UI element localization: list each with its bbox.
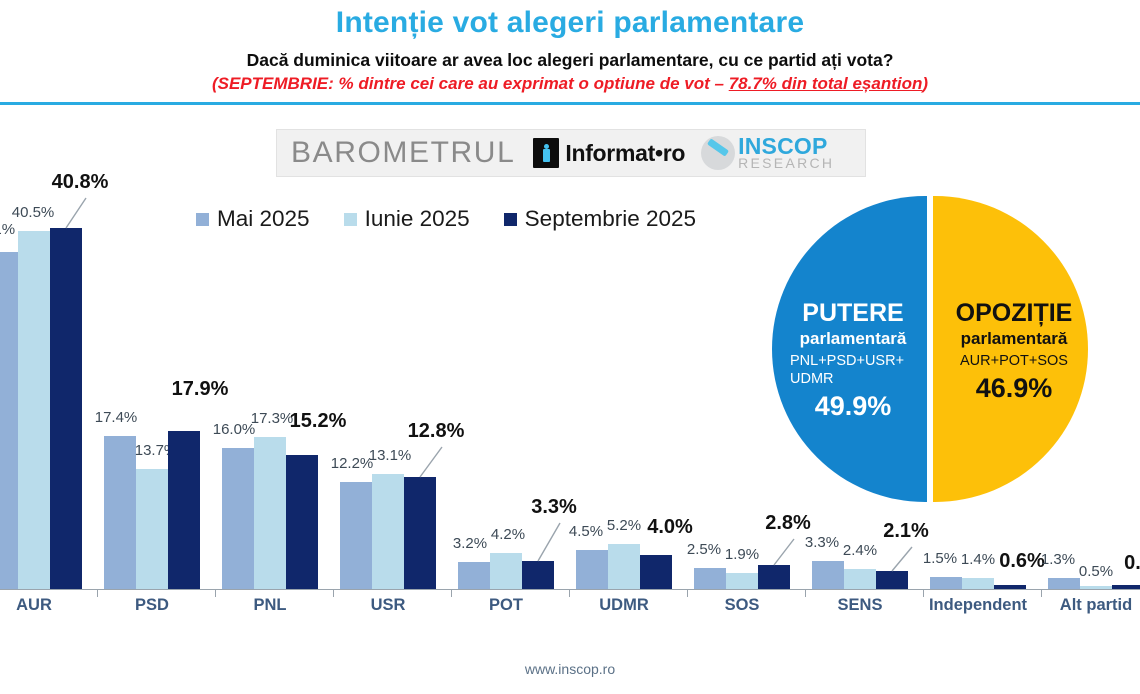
chart-note: (SEPTEMBRIE: % dintre cei care au exprim… <box>0 74 1140 94</box>
category-label-alt-partid: Alt partid <box>1036 596 1140 615</box>
bar-group-usr[interactable]: 12.2%13.1%12.8% <box>340 190 436 590</box>
bar-value-label: 17.4% <box>95 409 138 426</box>
bar-group-udmr[interactable]: 4.5%5.2%4.0% <box>576 190 672 590</box>
inscop-circle-icon <box>701 136 735 170</box>
bar[interactable] <box>640 555 672 590</box>
bar-value-label: 17.9% <box>172 378 229 401</box>
bar[interactable] <box>168 431 200 590</box>
bar-value-label: 0.6 <box>1124 552 1140 575</box>
inscop-name-label: INSCOP <box>738 136 834 157</box>
inscop-logo: INSCOP RESEARCH <box>701 136 834 170</box>
bar-value-label: 15.2% <box>290 410 347 433</box>
pie-opozitie-value: 46.9% <box>939 373 1089 404</box>
informat-icon <box>533 138 559 168</box>
bar[interactable] <box>490 553 522 590</box>
bar-group-psd[interactable]: 17.4%13.7%17.9% <box>104 190 200 590</box>
category-label-udmr: UDMR <box>564 596 684 615</box>
bar-value-label: 16.0% <box>213 421 256 438</box>
category-label-aur: AUR <box>0 596 94 615</box>
pie-label-putere: PUTERE parlamentară PNL+PSD+USR+ UDMR 49… <box>778 300 928 422</box>
bar[interactable] <box>576 550 608 590</box>
pie-opozitie-head: OPOZIȚIE <box>939 300 1089 326</box>
informat-ro-logo: Informat•ro <box>533 138 685 168</box>
bar[interactable] <box>0 252 18 590</box>
pie-putere-sub: parlamentară <box>778 330 928 349</box>
bar[interactable] <box>758 565 790 590</box>
bar[interactable] <box>254 437 286 590</box>
bar[interactable] <box>458 562 490 590</box>
footer-url: www.inscop.ro <box>0 661 1140 677</box>
pie-chart: PUTERE parlamentară PNL+PSD+USR+ UDMR 49… <box>772 196 1088 502</box>
page-title: Intenție vot alegeri parlamentare <box>0 6 1140 41</box>
note-prefix: (SEPTEMBRIE: % dintre cei care au exprim… <box>212 74 729 93</box>
note-highlight: 78.7% din total eșantion <box>729 74 923 93</box>
pie-opozitie-parties: AUR+POT+SOS <box>939 352 1089 370</box>
bar-value-label: 3.2% <box>453 535 487 552</box>
bar-value-label: 12.2% <box>331 455 374 472</box>
bar-value-label: 0.5% <box>1079 563 1113 580</box>
bar-value-label: 1.4% <box>961 551 995 568</box>
bar[interactable] <box>876 571 908 590</box>
inscop-sub-label: RESEARCH <box>738 157 834 170</box>
bar[interactable] <box>50 228 82 590</box>
pie-putere-head: PUTERE <box>778 300 928 326</box>
x-axis-category-labels: AURPSDPNLUSRPOTUDMRSOSSENSIndependentAlt… <box>0 596 1140 622</box>
bar[interactable] <box>812 561 844 590</box>
bar-value-label: 13.1% <box>369 447 412 464</box>
informat-ro-label: Informat•ro <box>565 140 685 167</box>
pie-opozitie-sub: parlamentară <box>939 330 1089 349</box>
bar-value-label: 5.2% <box>607 517 641 534</box>
category-label-psd: PSD <box>92 596 212 615</box>
category-label-independent: Independent <box>918 596 1038 615</box>
header-divider <box>0 102 1140 105</box>
category-label-pot: POT <box>446 596 566 615</box>
chart-header: Intenție vot alegeri parlamentare Dacă d… <box>0 0 1140 105</box>
chart-subtitle: Dacă duminica viitoare ar avea loc alege… <box>0 50 1140 70</box>
bar[interactable] <box>340 482 372 590</box>
barometrul-wordmark: BAROMETRUL <box>291 136 515 170</box>
bar-value-label: 17.3% <box>251 410 294 427</box>
category-label-sens: SENS <box>800 596 920 615</box>
bar-value-label: 4.0% <box>647 516 693 539</box>
bar[interactable] <box>844 569 876 590</box>
bar[interactable] <box>522 561 554 590</box>
bar-group-pot[interactable]: 3.2%4.2%3.3% <box>458 190 554 590</box>
bar-value-label: 1.3% <box>1041 551 1075 568</box>
bar[interactable] <box>18 231 50 590</box>
bar-value-label: 40.5% <box>12 204 55 221</box>
bar-value-label: 4.2% <box>491 526 525 543</box>
note-suffix: ) <box>922 74 928 93</box>
bar[interactable] <box>286 455 318 590</box>
bar[interactable] <box>930 577 962 590</box>
bar-value-label: 1.9% <box>725 546 759 563</box>
category-label-usr: USR <box>328 596 448 615</box>
inscop-wordmark: INSCOP RESEARCH <box>738 136 834 170</box>
bar[interactable] <box>726 573 758 590</box>
bar-value-label: 0.6% <box>999 550 1045 573</box>
bar[interactable] <box>372 474 404 590</box>
bar-value-label: 2.4% <box>843 542 877 559</box>
pie-label-opozitie: OPOZIȚIE parlamentară AUR+POT+SOS 46.9% <box>939 300 1089 404</box>
bar[interactable] <box>136 469 168 590</box>
bar[interactable] <box>404 477 436 590</box>
pie-putere-parties: PNL+PSD+USR+ UDMR <box>778 352 928 388</box>
bar[interactable] <box>222 448 254 590</box>
bar-value-label: 3.3% <box>805 534 839 551</box>
bar-group-aur[interactable]: 8.1%40.5%40.8% <box>0 190 82 590</box>
bar[interactable] <box>104 436 136 590</box>
bar-value-label: 2.5% <box>687 541 721 558</box>
category-label-pnl: PNL <box>210 596 330 615</box>
category-label-sos: SOS <box>682 596 802 615</box>
brand-logo-strip: BAROMETRUL Informat•ro INSCOP RESEARCH <box>276 129 866 177</box>
pie-putere-value: 49.9% <box>778 391 928 422</box>
bar-value-label: 1.5% <box>923 550 957 567</box>
bar[interactable] <box>608 544 640 590</box>
bar-value-label: 4.5% <box>569 523 603 540</box>
bar-value-label: 8.1% <box>0 221 15 238</box>
bar-group-pnl[interactable]: 16.0%17.3%15.2% <box>222 190 318 590</box>
x-axis-line <box>0 589 1140 590</box>
bar[interactable] <box>694 568 726 590</box>
